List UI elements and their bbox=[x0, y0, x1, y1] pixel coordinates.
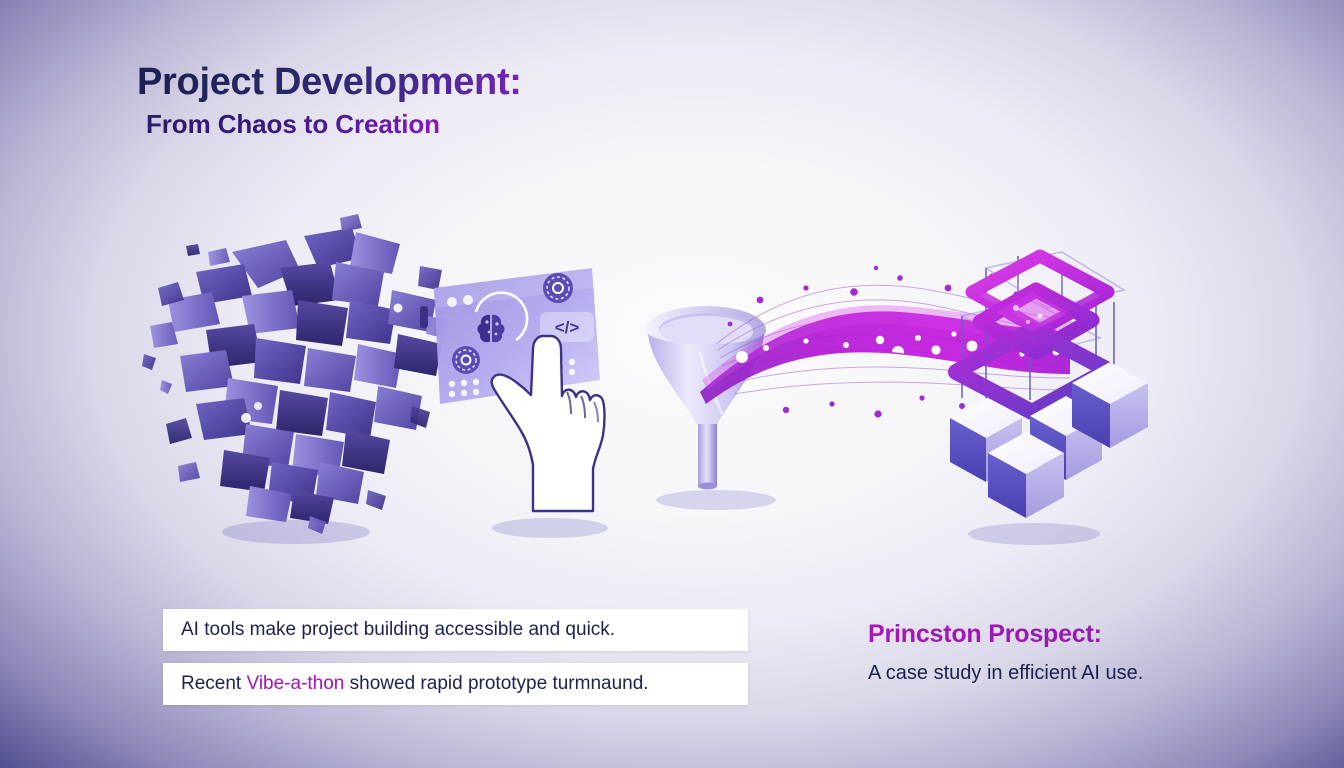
list-item: AI tools make project building accessibl… bbox=[163, 609, 748, 651]
page-title: Project Development: bbox=[137, 62, 522, 103]
bullet-highlight: Vibe-a-thon bbox=[246, 673, 344, 694]
list-item: Recent Vibe-a-thon showed rapid prototyp… bbox=[163, 663, 748, 705]
caption-subtitle: A case study in efficient AI use. bbox=[868, 662, 1288, 685]
caption-block: Princston Prospect: A case study in effi… bbox=[868, 620, 1288, 685]
isometric-structure-art bbox=[950, 252, 1148, 518]
page-subtitle: From Chaos to Creation bbox=[146, 109, 522, 140]
ai-device-card-art: </> bbox=[420, 268, 605, 511]
bullet-list: AI tools make project building accessibl… bbox=[163, 609, 748, 705]
svg-text:</>: </> bbox=[555, 318, 580, 337]
bullet-suffix: showed rapid prototype turmnaund. bbox=[344, 673, 648, 694]
bullet-text: AI tools make project building accessibl… bbox=[181, 619, 615, 640]
title-block: Project Development: From Chaos to Creat… bbox=[137, 62, 522, 140]
gear-icon bbox=[543, 273, 573, 303]
bullet-prefix: Recent bbox=[181, 673, 246, 694]
caption-title: Princston Prospect: bbox=[868, 620, 1288, 649]
chaos-cluster-art bbox=[142, 214, 448, 541]
gear-icon bbox=[452, 346, 480, 374]
slide-canvas: </> bbox=[0, 0, 1344, 768]
